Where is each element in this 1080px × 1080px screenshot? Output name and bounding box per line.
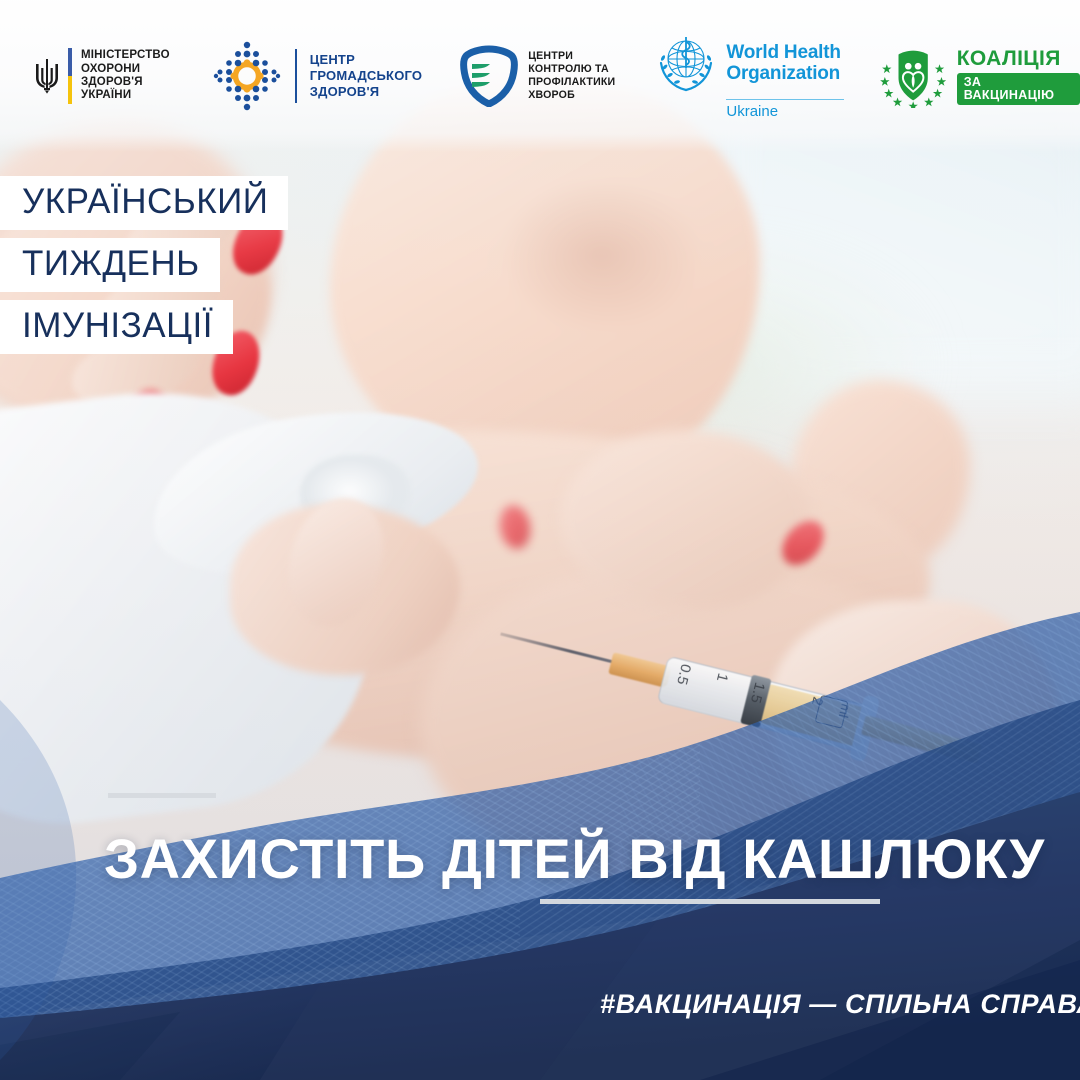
campaign-title-row-3: ІМУНІЗАЦІЇ bbox=[0, 300, 288, 362]
cdc-line-2: КОНТРОЛЮ ТА bbox=[528, 63, 615, 76]
logo-public-health-center: ЦЕНТР ГРОМАДСЬКОГО ЗДОРОВ'Я bbox=[210, 39, 422, 113]
cph-line-3: ЗДОРОВ'Я bbox=[310, 84, 422, 100]
campaign-title-row-1: УКРАЇНСЬКИЙ bbox=[0, 176, 288, 238]
cph-name: ЦЕНТР ГРОМАДСЬКОГО ЗДОРОВ'Я bbox=[310, 52, 422, 100]
logo-vaccination-coalition: КОАЛІЦІЯ ЗА ВАКЦИНАЦІЮ bbox=[878, 44, 1080, 108]
campaign-title-row-2: ТИЖДЕНЬ bbox=[0, 238, 288, 300]
shield-heart-icon bbox=[460, 45, 518, 107]
headline-rule-bottom bbox=[540, 899, 880, 904]
ministry-line-2: ОХОРОНИ bbox=[81, 63, 170, 76]
who-main-row: World Health Organization bbox=[655, 32, 840, 94]
ministry-line-1: МІНІСТЕРСТВО bbox=[81, 49, 170, 62]
who-globe-laurel-icon bbox=[655, 32, 717, 94]
campaign-title-line-1: УКРАЇНСЬКИЙ bbox=[0, 176, 288, 230]
campaign-title-line-3: ІМУНІЗАЦІЇ bbox=[0, 300, 233, 354]
headline-text: ЗАХИСТІТЬ ДІТЕЙ ВІД КАШЛЮКУ bbox=[104, 826, 1045, 891]
green-shield-stars-icon bbox=[878, 44, 948, 108]
poster-canvas: 0.5 1 1.5 2 ml bbox=[0, 0, 1080, 1080]
logo-center-disease-control: ЦЕНТРИ КОНТРОЛЮ ТА ПРОФІЛАКТИКИ ХВОРОБ bbox=[460, 45, 615, 107]
campaign-title-line-2: ТИЖДЕНЬ bbox=[0, 238, 220, 292]
ministry-divider-bar bbox=[68, 48, 72, 104]
who-name: World Health Organization bbox=[726, 42, 840, 84]
cph-line-2: ГРОМАДСЬКОГО bbox=[310, 68, 422, 84]
coalition-badge: ЗА ВАКЦИНАЦІЮ bbox=[957, 73, 1080, 105]
cdc-line-1: ЦЕНТРИ bbox=[528, 50, 615, 63]
ministry-line-3: ЗДОРОВ'Я bbox=[81, 76, 170, 89]
headline-rule-top bbox=[108, 793, 216, 798]
trident-emblem-icon bbox=[34, 58, 60, 94]
syringe-needle bbox=[500, 632, 617, 664]
tagline-text: #ВАКЦИНАЦІЯ — СПІЛЬНА СПРАВА bbox=[600, 989, 1080, 1020]
cph-divider-bar bbox=[295, 49, 297, 103]
coalition-name: КОАЛІЦІЯ ЗА ВАКЦИНАЦІЮ bbox=[957, 48, 1080, 105]
who-country-label: Ukraine bbox=[726, 103, 778, 120]
syringe-unit-label: ml bbox=[836, 702, 854, 719]
ministry-line-4: УКРАЇНИ bbox=[81, 89, 170, 102]
logo-world-health-organization: World Health Organization Ukraine bbox=[655, 32, 844, 121]
partner-logo-bar: МІНІСТЕРСТВО ОХОРОНИ ЗДОРОВ'Я УКРАЇНИ bbox=[0, 0, 1080, 152]
cdc-line-3: ПРОФІЛАКТИКИ bbox=[528, 76, 615, 89]
who-divider-rule bbox=[726, 99, 844, 101]
coalition-title: КОАЛІЦІЯ bbox=[957, 48, 1080, 70]
logo-ministry-of-health: МІНІСТЕРСТВО ОХОРОНИ ЗДОРОВ'Я УКРАЇНИ bbox=[34, 48, 170, 104]
cph-line-1: ЦЕНТР bbox=[310, 52, 422, 68]
dot-circle-emblem-icon bbox=[210, 39, 284, 113]
campaign-title-banners: УКРАЇНСЬКИЙ ТИЖДЕНЬ ІМУНІЗАЦІЇ bbox=[0, 176, 288, 362]
cdc-line-4: ХВОРОБ bbox=[528, 89, 615, 102]
cdc-name: ЦЕНТРИ КОНТРОЛЮ ТА ПРОФІЛАКТИКИ ХВОРОБ bbox=[528, 50, 615, 101]
background-photo: 0.5 1 1.5 2 ml bbox=[0, 0, 1080, 1080]
who-line-2: Organization bbox=[726, 63, 840, 84]
who-line-1: World Health bbox=[726, 42, 840, 63]
ministry-name: МІНІСТЕРСТВО ОХОРОНИ ЗДОРОВ'Я УКРАЇНИ bbox=[81, 49, 170, 103]
